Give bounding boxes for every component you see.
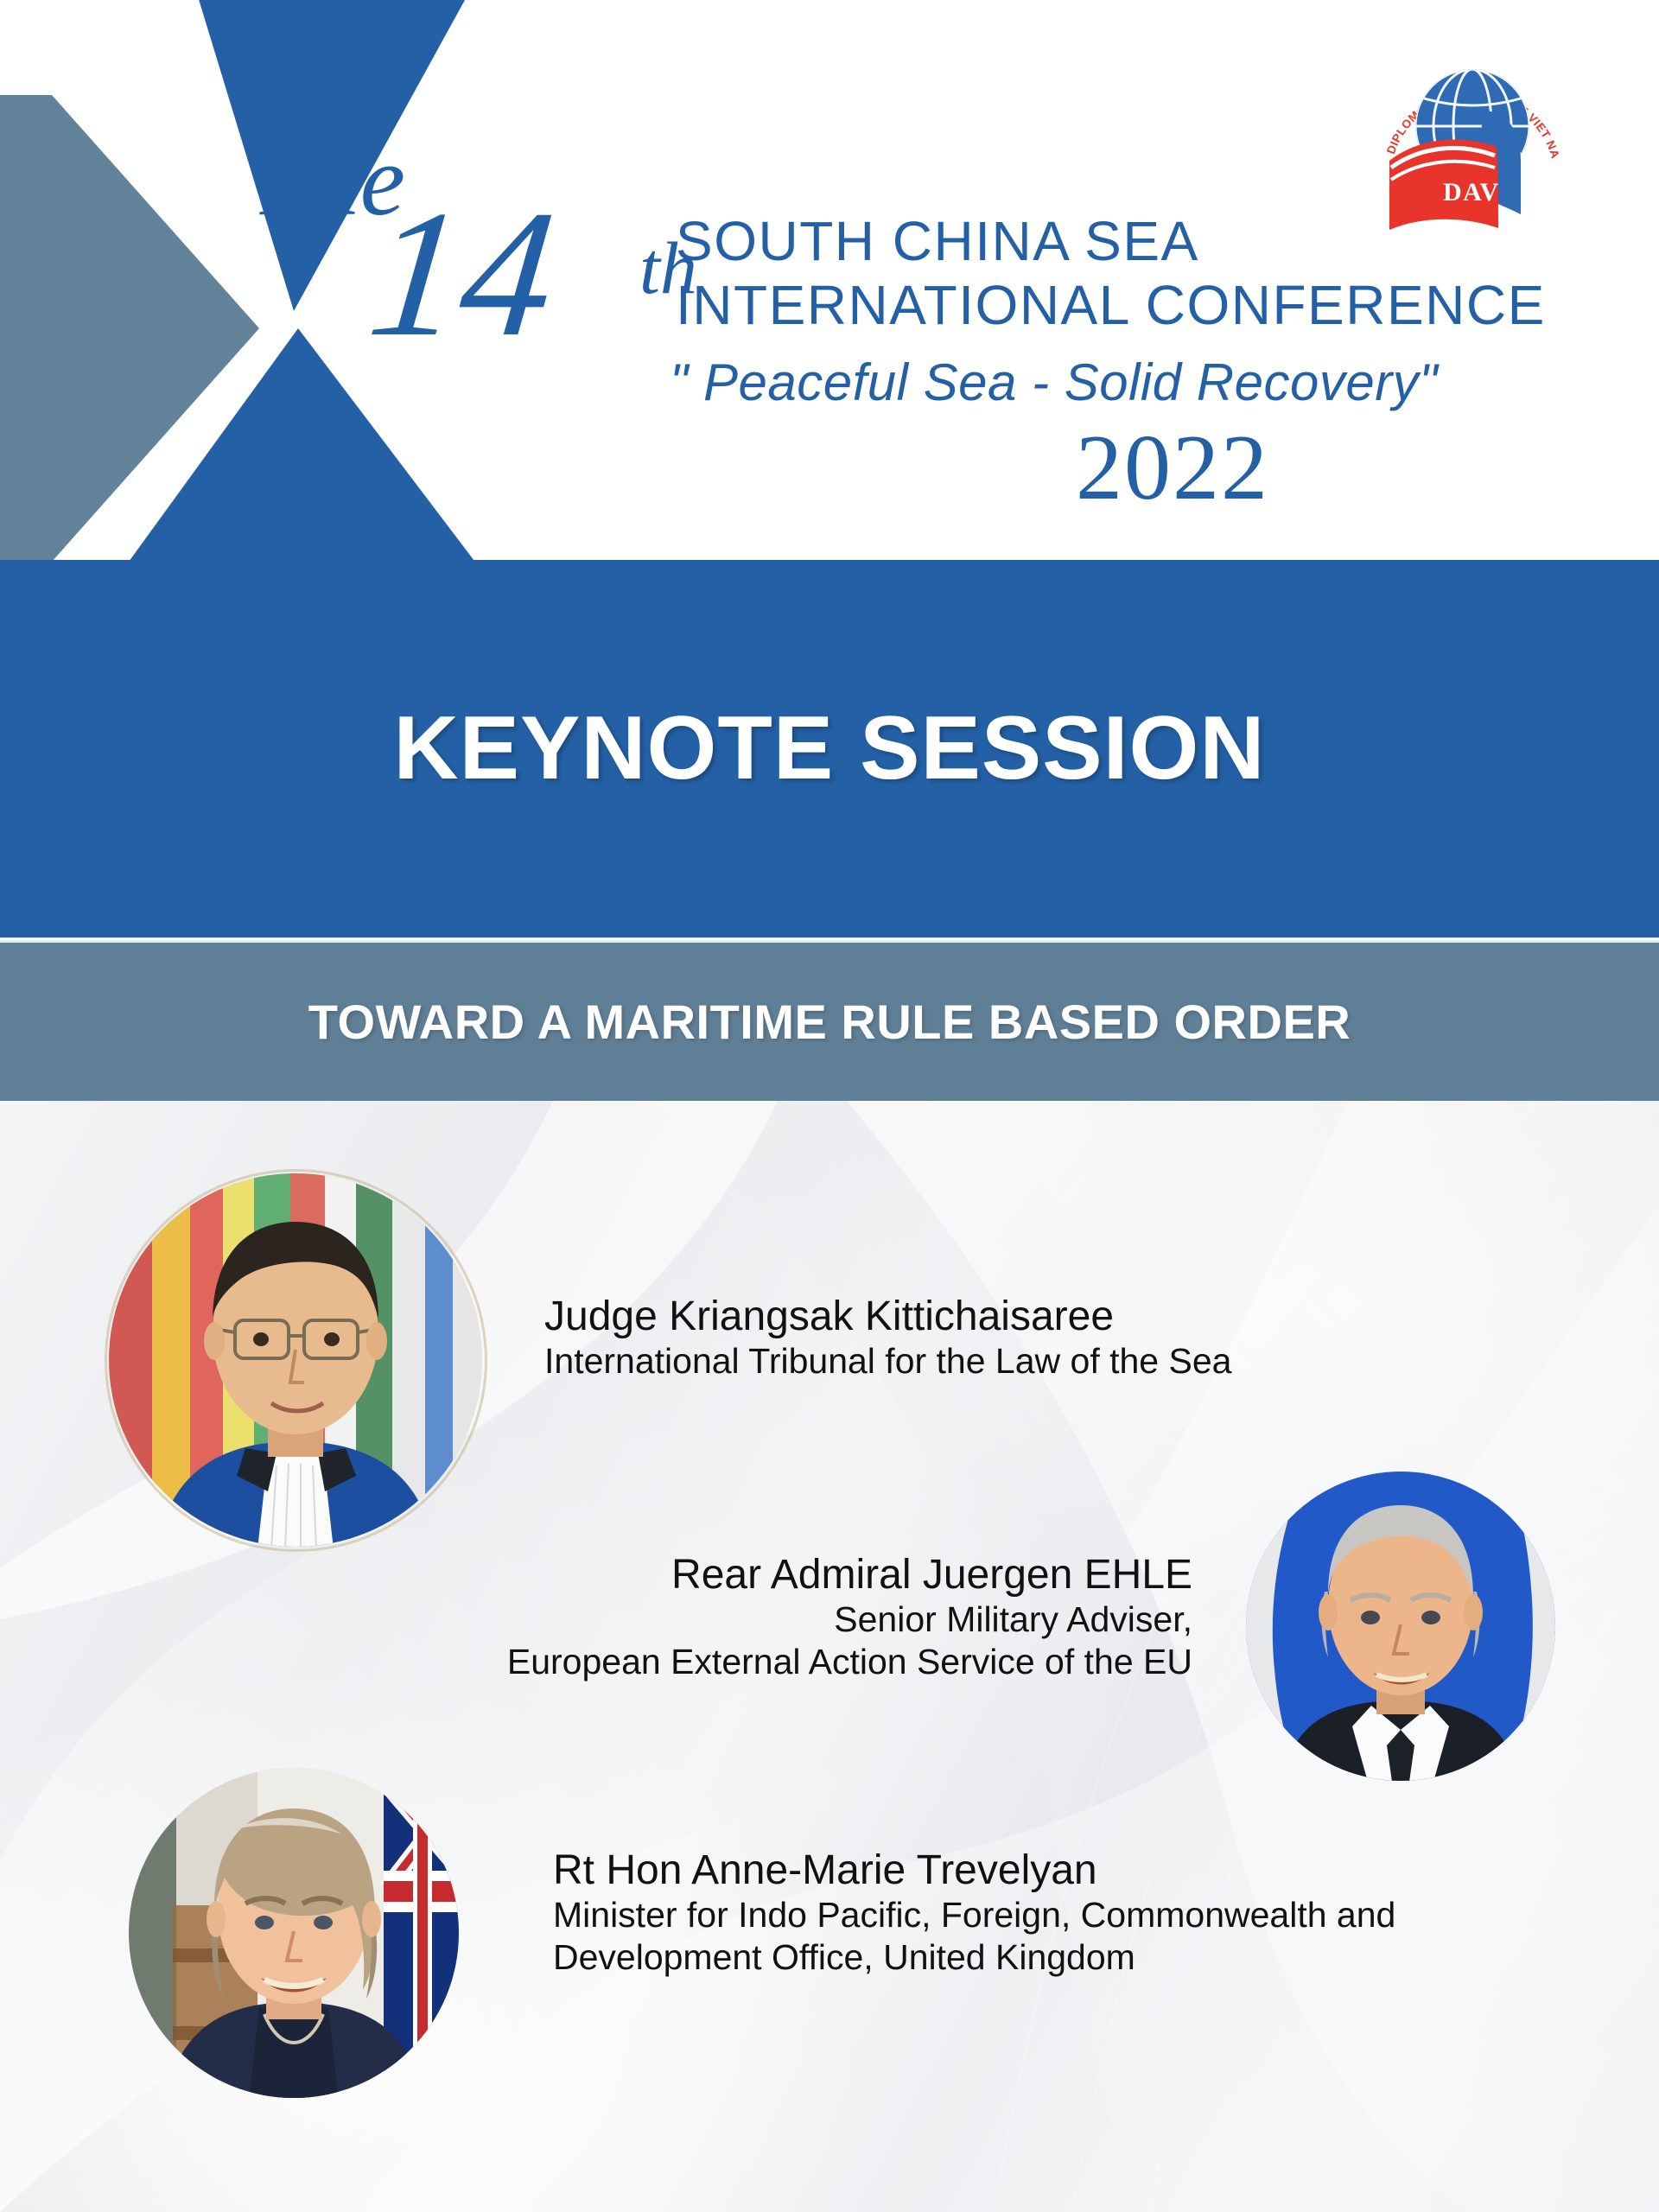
speaker-portrait-2 (1245, 1471, 1556, 1782)
conference-name-line1: SOUTH CHINA SEA (676, 211, 1199, 271)
portrait-photo-minister-icon (128, 1767, 461, 2100)
dav-logo: DIPLOMATIC ACADEMY OF VIET NAM (1369, 31, 1576, 247)
speaker-role-1: International Tribunal for the Law of th… (544, 1340, 1231, 1382)
speaker-info-1: Judge Kriangsak Kittichaisaree Internati… (544, 1294, 1231, 1382)
speaker-role-2-line2: European External Action Service of the … (484, 1641, 1192, 1683)
speaker-info-3: Rt Hon Anne-Marie Trevelyan Minister for… (553, 1847, 1395, 1979)
speaker-name-2: Rear Admiral Juergen EHLE (484, 1552, 1192, 1599)
speaker-role-2-line1: Senior Military Adviser, (484, 1599, 1192, 1641)
speaker-portrait-1 (107, 1172, 485, 1549)
conference-name-line2: INTERNATIONAL CONFERENCE (676, 275, 1546, 335)
conference-tagline: " Peaceful Sea - Solid Recovery" (670, 353, 1438, 412)
dav-emblem-icon: DIPLOMATIC ACADEMY OF VIET NAM (1369, 31, 1576, 247)
speakers-section: Judge Kriangsak Kittichaisaree Internati… (0, 1101, 1659, 2212)
conference-poster: The 14 th SOUTH CHINA SEA INTERNATIONAL … (0, 0, 1659, 2212)
speaker-portrait-3 (128, 1767, 461, 2100)
speaker-role-3-line1: Minister for Indo Pacific, Foreign, Comm… (553, 1894, 1395, 1936)
keynote-session-bar: KEYNOTE SESSION (0, 560, 1659, 938)
portrait-photo-admiral-icon (1245, 1471, 1556, 1782)
svg-text:DAV: DAV (1443, 178, 1500, 207)
poster-header: The 14 th SOUTH CHINA SEA INTERNATIONAL … (0, 0, 1659, 560)
conference-year: 2022 (1076, 415, 1269, 522)
speaker-info-2: Rear Admiral Juergen EHLE Senior Militar… (484, 1552, 1192, 1683)
session-subtitle-bar: TOWARD A MARITIME RULE BASED ORDER (0, 940, 1659, 1101)
speaker-name-3: Rt Hon Anne-Marie Trevelyan (553, 1847, 1395, 1894)
portrait-photo-judge-icon (107, 1172, 485, 1549)
session-subtitle: TOWARD A MARITIME RULE BASED ORDER (308, 994, 1351, 1050)
keynote-session-title: KEYNOTE SESSION (394, 697, 1266, 800)
speaker-name-1: Judge Kriangsak Kittichaisaree (544, 1294, 1231, 1340)
edition-number: 14 (364, 197, 562, 352)
speaker-role-3-line2: Development Office, United Kingdom (553, 1936, 1395, 1979)
